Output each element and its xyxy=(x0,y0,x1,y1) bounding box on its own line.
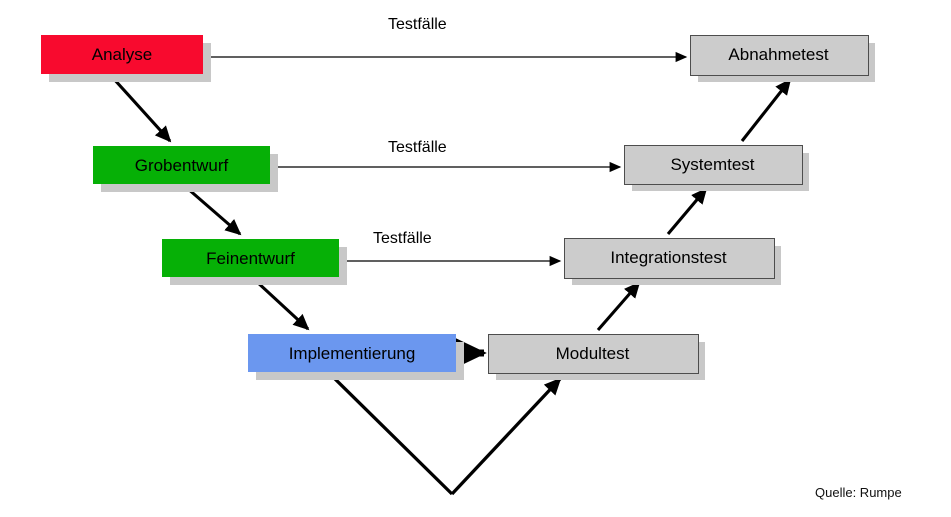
source-attribution: Quelle: Rumpe xyxy=(815,485,902,500)
node-label: Grobentwurf xyxy=(125,157,239,174)
node-label: Systemtest xyxy=(660,156,764,173)
edge-integrationstest-systemtest xyxy=(668,189,706,234)
edge-vertex-modultest xyxy=(452,379,560,494)
edge-modultest-integrationstest xyxy=(598,283,639,330)
edge-label-testfaelle-1: Testfälle xyxy=(388,16,447,34)
node-label: Integrationstest xyxy=(600,249,736,266)
edge-feinentwurf-implementierung xyxy=(256,281,308,329)
node-implementierung[interactable]: Implementierung xyxy=(248,334,456,372)
node-grobentwurf[interactable]: Grobentwurf xyxy=(93,146,270,184)
v-model-diagram: Analyse Grobentwurf Feinentwurf Implemen… xyxy=(0,0,951,517)
node-label: Modultest xyxy=(546,345,640,362)
node-analyse[interactable]: Analyse xyxy=(41,35,203,74)
node-feinentwurf[interactable]: Feinentwurf xyxy=(162,239,339,277)
edge-label-testfaelle-2: Testfälle xyxy=(388,139,447,157)
node-systemtest[interactable]: Systemtest xyxy=(624,145,801,183)
node-modultest[interactable]: Modultest xyxy=(488,334,697,372)
edge-systemtest-abnahmetest xyxy=(742,80,790,141)
edge-implementierung-vertex xyxy=(330,374,452,494)
edge-label-testfaelle-3: Testfälle xyxy=(373,230,432,248)
node-label: Abnahmetest xyxy=(718,46,838,63)
node-label: Analyse xyxy=(82,46,162,63)
edge-grobentwurf-feinentwurf xyxy=(187,188,240,234)
node-label: Feinentwurf xyxy=(196,250,305,267)
edge-analyse-grobentwurf xyxy=(113,78,170,141)
node-label: Implementierung xyxy=(279,345,426,362)
node-integrationstest[interactable]: Integrationstest xyxy=(564,238,773,277)
node-abnahmetest[interactable]: Abnahmetest xyxy=(690,35,867,74)
